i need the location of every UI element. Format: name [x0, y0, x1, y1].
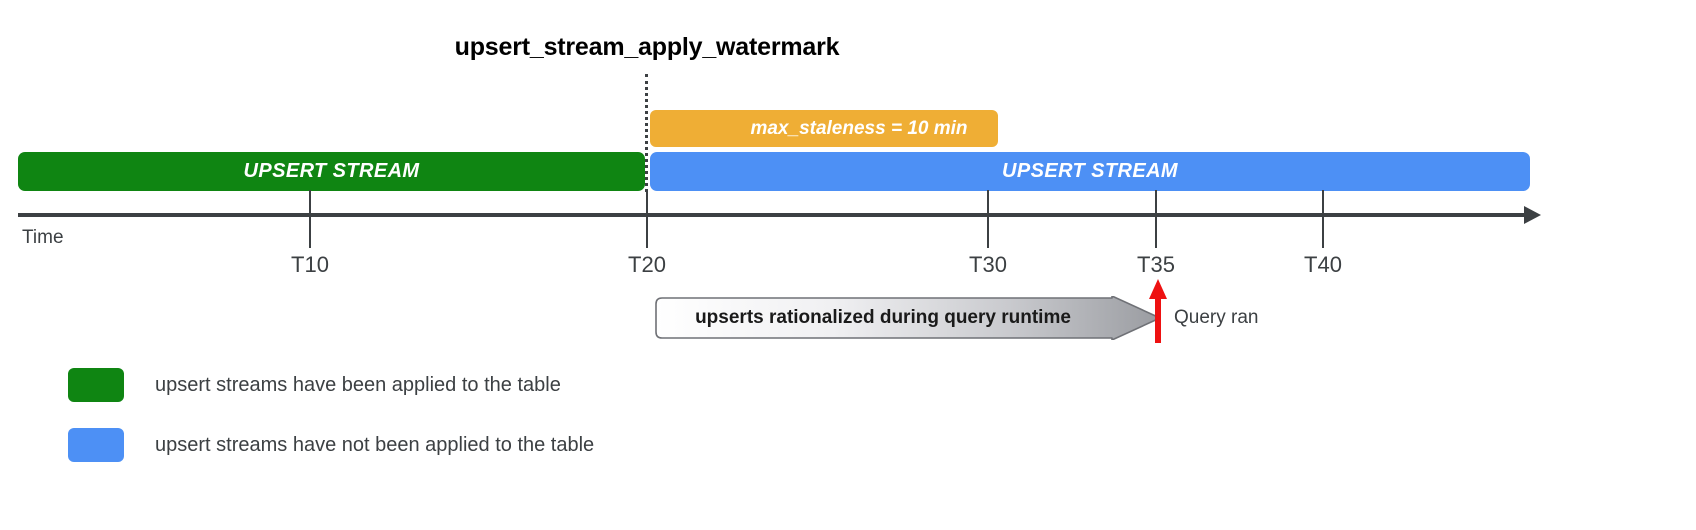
axis-tick-label-t35: T35 — [1137, 252, 1175, 278]
legend-label-not-applied: upsert streams have not been applied to … — [155, 434, 594, 457]
axis-tick-t40 — [1322, 190, 1324, 248]
upsert-stream-applied-label: UPSERT STREAM — [244, 160, 420, 183]
time-axis-arrow-icon — [1524, 206, 1541, 224]
axis-tick-t10 — [309, 190, 311, 248]
time-axis-label: Time — [22, 227, 64, 249]
legend-item-applied: upsert streams have been applied to the … — [68, 355, 594, 415]
axis-tick-label-t10: T10 — [291, 252, 329, 278]
diagram-title: upsert_stream_apply_watermark — [0, 33, 1294, 62]
rationalization-callout: upserts rationalized during query runtim… — [648, 296, 1164, 340]
axis-tick-t30 — [987, 190, 989, 248]
max-staleness-label: max_staleness = 10 min — [750, 118, 967, 140]
upsert-stream-not-applied-label: UPSERT STREAM — [1002, 160, 1178, 183]
rationalization-callout-label: upserts rationalized during query runtim… — [648, 296, 1118, 340]
axis-tick-label-t20: T20 — [628, 252, 666, 278]
time-axis-line — [18, 213, 1528, 217]
max-staleness-bar: max_staleness = 10 min — [650, 110, 998, 147]
upsert-stream-applied-bar: UPSERT STREAM — [18, 152, 645, 191]
axis-tick-t35 — [1155, 190, 1157, 248]
query-ran-label: Query ran — [1174, 307, 1258, 329]
axis-tick-t20 — [646, 190, 648, 248]
watermark-dotted-line — [645, 74, 648, 192]
axis-tick-label-t40: T40 — [1304, 252, 1342, 278]
legend-item-not-applied: upsert streams have not been applied to … — [68, 415, 594, 475]
axis-tick-label-t30: T30 — [969, 252, 1007, 278]
legend-swatch-blue — [68, 428, 124, 462]
legend: upsert streams have been applied to the … — [68, 355, 594, 475]
timeline-diagram: upsert_stream_apply_watermark max_stalen… — [0, 0, 1696, 530]
legend-swatch-green — [68, 368, 124, 402]
query-ran-arrow-icon — [1149, 279, 1167, 343]
upsert-stream-not-applied-bar: UPSERT STREAM — [650, 152, 1530, 191]
legend-label-applied: upsert streams have been applied to the … — [155, 374, 561, 397]
